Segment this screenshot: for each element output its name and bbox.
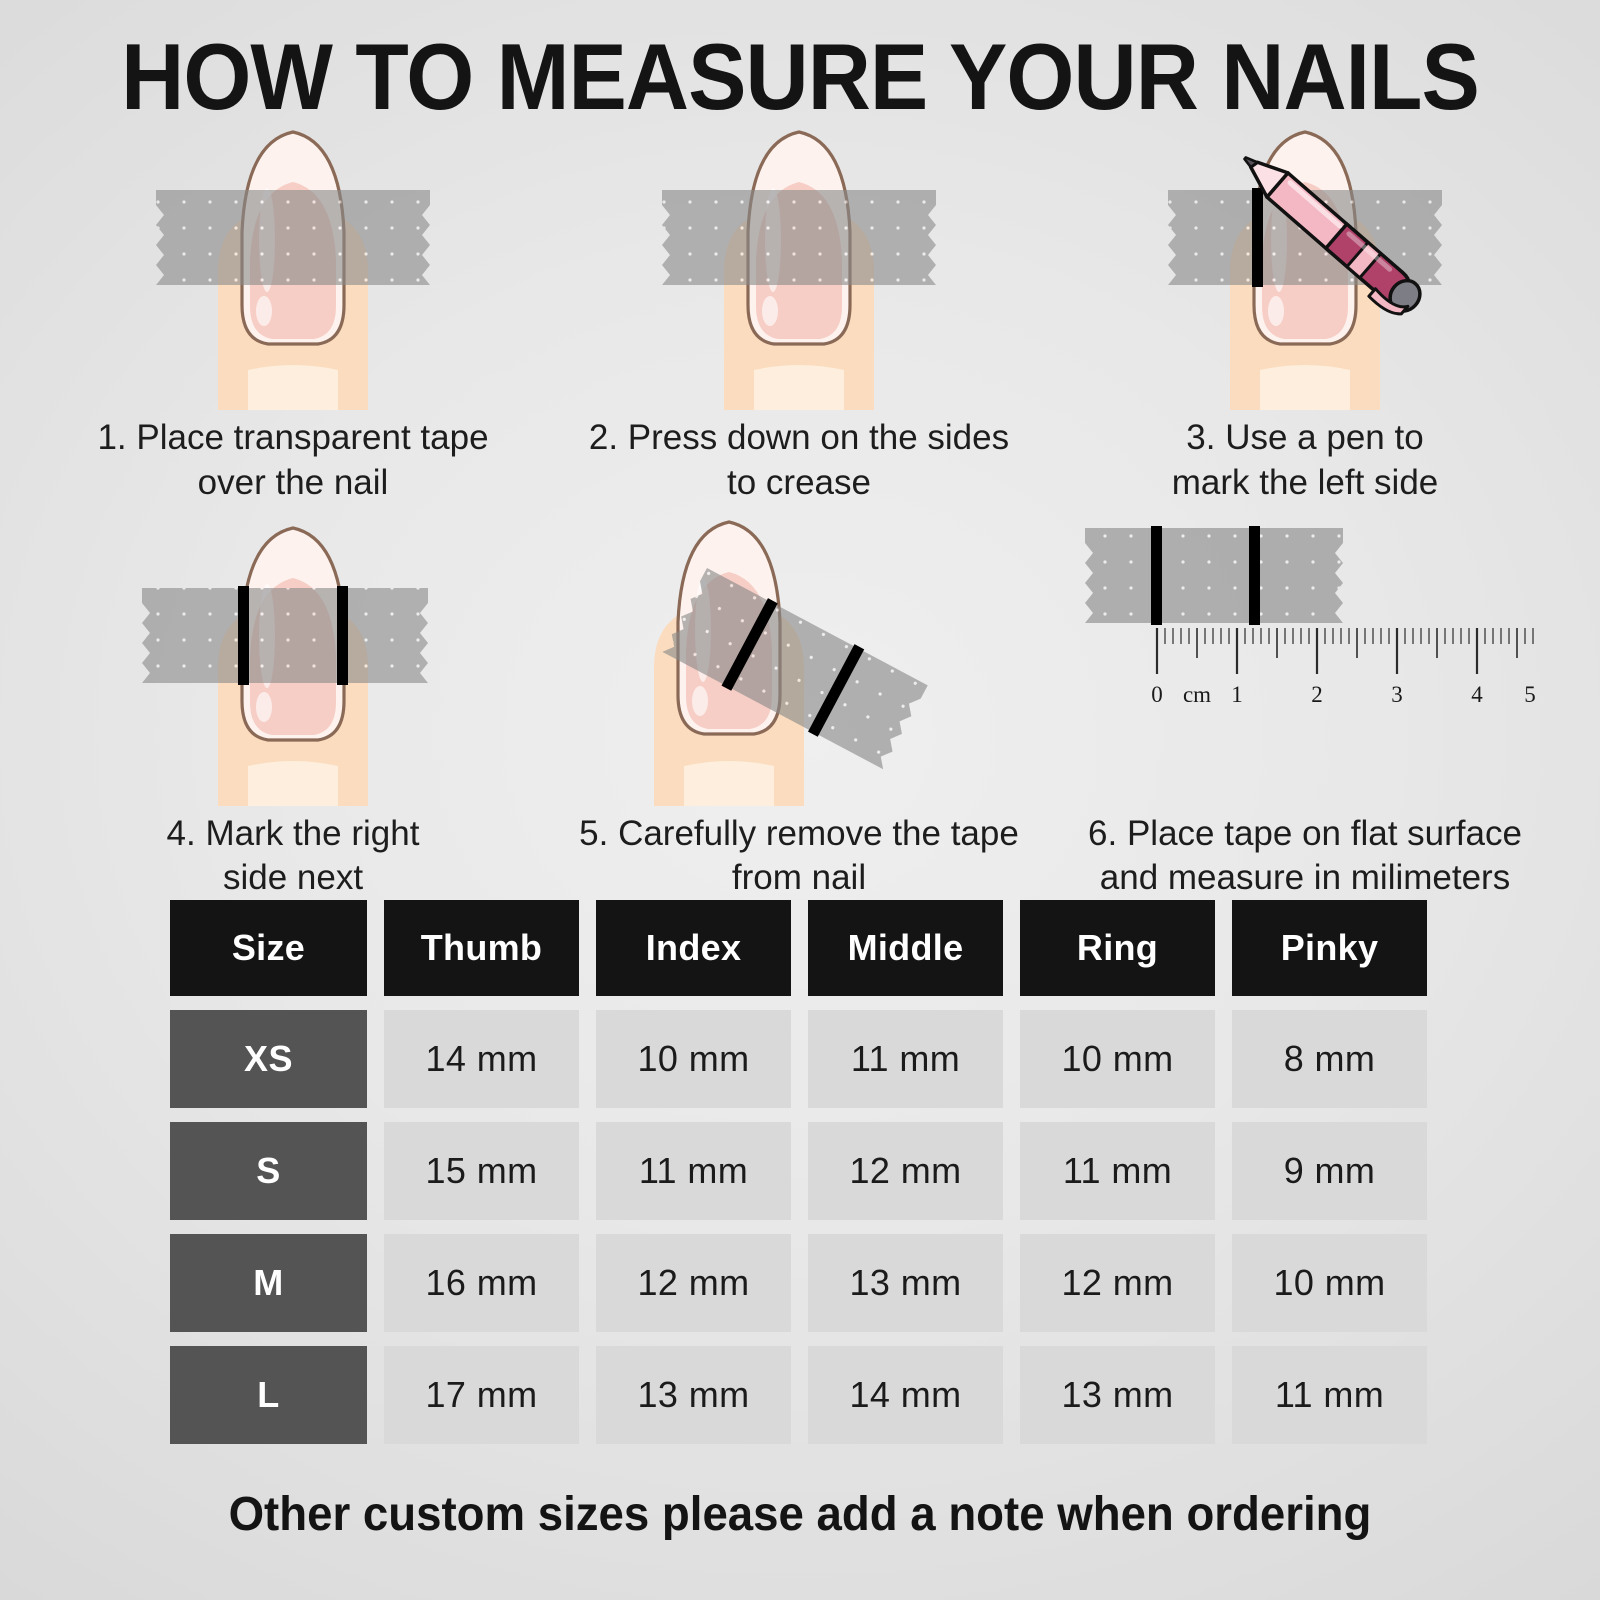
cell-s-index: 11 mm <box>596 1122 791 1220</box>
size-label-l: L <box>170 1346 367 1444</box>
step-5: 5. Carefully remove the tapefrom nail <box>546 506 1052 902</box>
table-row: S 15 mm 11 mm 12 mm 11 mm 9 mm <box>170 1122 1432 1220</box>
step-2-illustration <box>546 120 1052 410</box>
table-row: XS 14 mm 10 mm 11 mm 10 mm 8 mm <box>170 1010 1432 1108</box>
tape-strip <box>142 588 428 683</box>
cell-xs-index: 10 mm <box>596 1010 791 1108</box>
cell-s-middle: 12 mm <box>808 1122 1003 1220</box>
step-3-illustration <box>1052 120 1558 410</box>
size-label-xs: XS <box>170 1010 367 1108</box>
step-4-illustration <box>40 506 546 806</box>
step-3-caption: 3. Use a pen tomark the left side <box>1052 416 1558 506</box>
table-header-pinky: Pinky <box>1232 900 1427 996</box>
cell-m-thumb: 16 mm <box>384 1234 579 1332</box>
tape-strip <box>156 190 430 285</box>
ruler-label-1: 1 <box>1231 682 1243 707</box>
steps-row-1: 1. Place transparent tapeover the nail <box>40 120 1560 506</box>
cell-l-index: 13 mm <box>596 1346 791 1444</box>
cell-s-thumb: 15 mm <box>384 1122 579 1220</box>
cell-m-index: 12 mm <box>596 1234 791 1332</box>
step-5-illustration <box>546 506 1052 806</box>
size-chart-table: Size Thumb Index Middle Ring Pinky XS 14… <box>170 900 1432 1458</box>
step-3: 3. Use a pen tomark the left side <box>1052 120 1558 506</box>
step-1-caption: 1. Place transparent tapeover the nail <box>40 416 546 506</box>
size-label-m: M <box>170 1234 367 1332</box>
page-title: HOW TO MEASURE YOUR NAILS <box>56 30 1544 124</box>
cell-xs-thumb: 14 mm <box>384 1010 579 1108</box>
tape-strip <box>1085 528 1343 623</box>
step-4-caption: 4. Mark the rightside next <box>40 812 546 902</box>
mark-left <box>238 586 249 685</box>
table-header-middle: Middle <box>808 900 1003 996</box>
step-1-illustration <box>40 120 546 410</box>
step-2-caption: 2. Press down on the sidesto crease <box>546 416 1052 506</box>
cell-xs-middle: 11 mm <box>808 1010 1003 1108</box>
cell-l-middle: 14 mm <box>808 1346 1003 1444</box>
step-6-illustration: 0 cm 1 2 3 4 5 <box>1052 506 1558 806</box>
cell-l-thumb: 17 mm <box>384 1346 579 1444</box>
step-5-caption: 5. Carefully remove the tapefrom nail <box>546 812 1052 902</box>
step-2: 2. Press down on the sidesto crease <box>546 120 1052 506</box>
steps-row-2: 4. Mark the rightside next <box>40 506 1560 902</box>
cell-s-pinky: 9 mm <box>1232 1122 1427 1220</box>
table-header-ring: Ring <box>1020 900 1215 996</box>
table-header-index: Index <box>596 900 791 996</box>
cell-m-pinky: 10 mm <box>1232 1234 1427 1332</box>
cell-l-pinky: 11 mm <box>1232 1346 1427 1444</box>
mark-right <box>337 586 348 685</box>
ruler-labels: 0 cm 1 2 3 4 5 <box>1151 682 1536 707</box>
ruler <box>1157 628 1533 674</box>
size-label-s: S <box>170 1122 367 1220</box>
steps-section: 1. Place transparent tapeover the nail <box>40 120 1560 901</box>
cell-m-middle: 13 mm <box>808 1234 1003 1332</box>
step-1: 1. Place transparent tapeover the nail <box>40 120 546 506</box>
table-row: M 16 mm 12 mm 13 mm 12 mm 10 mm <box>170 1234 1432 1332</box>
footer-note: Other custom sizes please add a note whe… <box>40 1487 1560 1542</box>
ruler-label-3: 3 <box>1391 682 1403 707</box>
cell-xs-pinky: 8 mm <box>1232 1010 1427 1108</box>
mark-right <box>1249 526 1260 625</box>
table-header-size: Size <box>170 900 367 996</box>
ruler-label-5: 5 <box>1524 682 1536 707</box>
tape-strip-creased <box>662 190 936 285</box>
cell-m-ring: 12 mm <box>1020 1234 1215 1332</box>
table-header-thumb: Thumb <box>384 900 579 996</box>
ruler-label-2: 2 <box>1311 682 1323 707</box>
mark-left <box>1151 526 1162 625</box>
step-6-caption: 6. Place tape on flat surfaceand measure… <box>1052 812 1558 902</box>
cell-xs-ring: 10 mm <box>1020 1010 1215 1108</box>
ruler-label-4: 4 <box>1471 682 1483 707</box>
mark-left <box>1252 188 1263 287</box>
ruler-label-0: 0 <box>1151 682 1163 707</box>
cell-s-ring: 11 mm <box>1020 1122 1215 1220</box>
table-header-row: Size Thumb Index Middle Ring Pinky <box>170 900 1432 996</box>
table-row: L 17 mm 13 mm 14 mm 13 mm 11 mm <box>170 1346 1432 1444</box>
step-4: 4. Mark the rightside next <box>40 506 546 902</box>
infographic-page: HOW TO MEASURE YOUR NAILS <box>0 0 1600 1600</box>
ruler-unit-label: cm <box>1183 682 1211 707</box>
cell-l-ring: 13 mm <box>1020 1346 1215 1444</box>
step-6: 0 cm 1 2 3 4 5 6. Place tape on flat sur… <box>1052 506 1558 902</box>
